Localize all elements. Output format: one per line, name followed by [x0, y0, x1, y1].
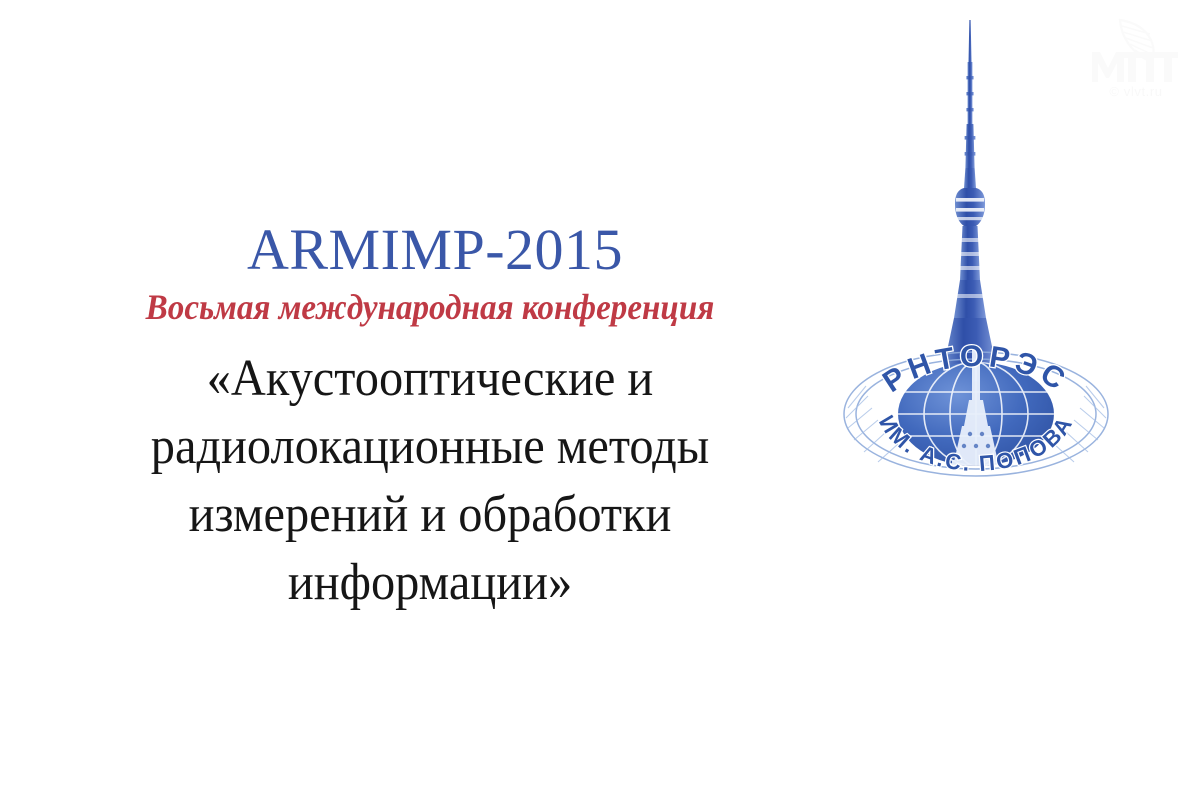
conference-acronym: ARMIMP-2015: [0, 215, 860, 285]
watermark-text: © vlvt.ru: [1080, 84, 1192, 99]
rntores-emblem: РНТОРЭС ИМ. А.С. ПОПОВА: [826, 322, 1126, 502]
vlvt-logo-icon: [1080, 12, 1192, 86]
conference-title: «Акустооптические и радиолокационные мет…: [0, 345, 860, 617]
conference-title-line-3: измерений и обработки: [30, 481, 830, 549]
conference-title-line-1: «Акустооптические и: [30, 345, 830, 413]
conference-title-line-2: радиолокационные методы: [30, 413, 830, 481]
conference-subtitle: Восьмая международная конференция: [34, 285, 825, 329]
conference-title-line-4: информации»: [30, 549, 830, 617]
watermark: © vlvt.ru: [1080, 12, 1192, 112]
text-block: ARMIMP-2015 Восьмая международная конфер…: [0, 215, 860, 617]
poster-canvas: ARMIMP-2015 Восьмая международная конфер…: [0, 0, 1200, 800]
